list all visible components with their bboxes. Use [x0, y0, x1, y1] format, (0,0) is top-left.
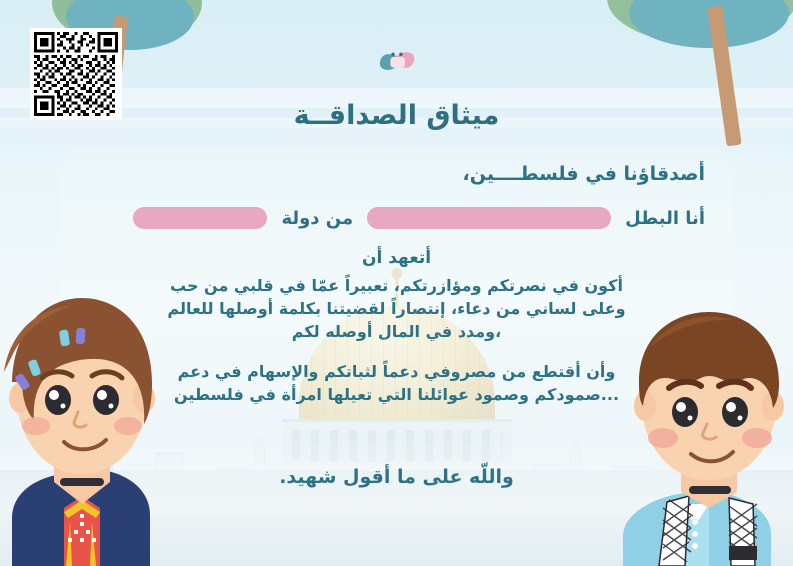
certificate-card: ميثاق الصداقــة أصدقاؤنا في فلسطــــين، …	[0, 0, 793, 566]
hero-declaration-line: أنا البطل من دولة	[88, 207, 705, 229]
hands-embrace-logo	[364, 28, 430, 94]
hero-prefix-label: أنا البطل	[625, 208, 705, 229]
hero-country-blank[interactable]	[133, 207, 267, 229]
pledge-heading: أتعهد أن	[0, 248, 793, 268]
boy-head	[634, 312, 784, 480]
boy-body	[623, 490, 771, 566]
boy-character	[619, 294, 793, 566]
hero-name-blank[interactable]	[367, 207, 611, 229]
page-title: ميثاق الصداقــة	[0, 100, 793, 131]
hero-middle-label: من دولة	[281, 208, 353, 229]
greeting-text: أصدقاؤنا في فلسطــــين،	[463, 163, 705, 185]
content-layer: ميثاق الصداقــة أصدقاؤنا في فلسطــــين، …	[0, 0, 793, 566]
girl-head	[4, 298, 155, 474]
girl-character	[0, 286, 172, 566]
